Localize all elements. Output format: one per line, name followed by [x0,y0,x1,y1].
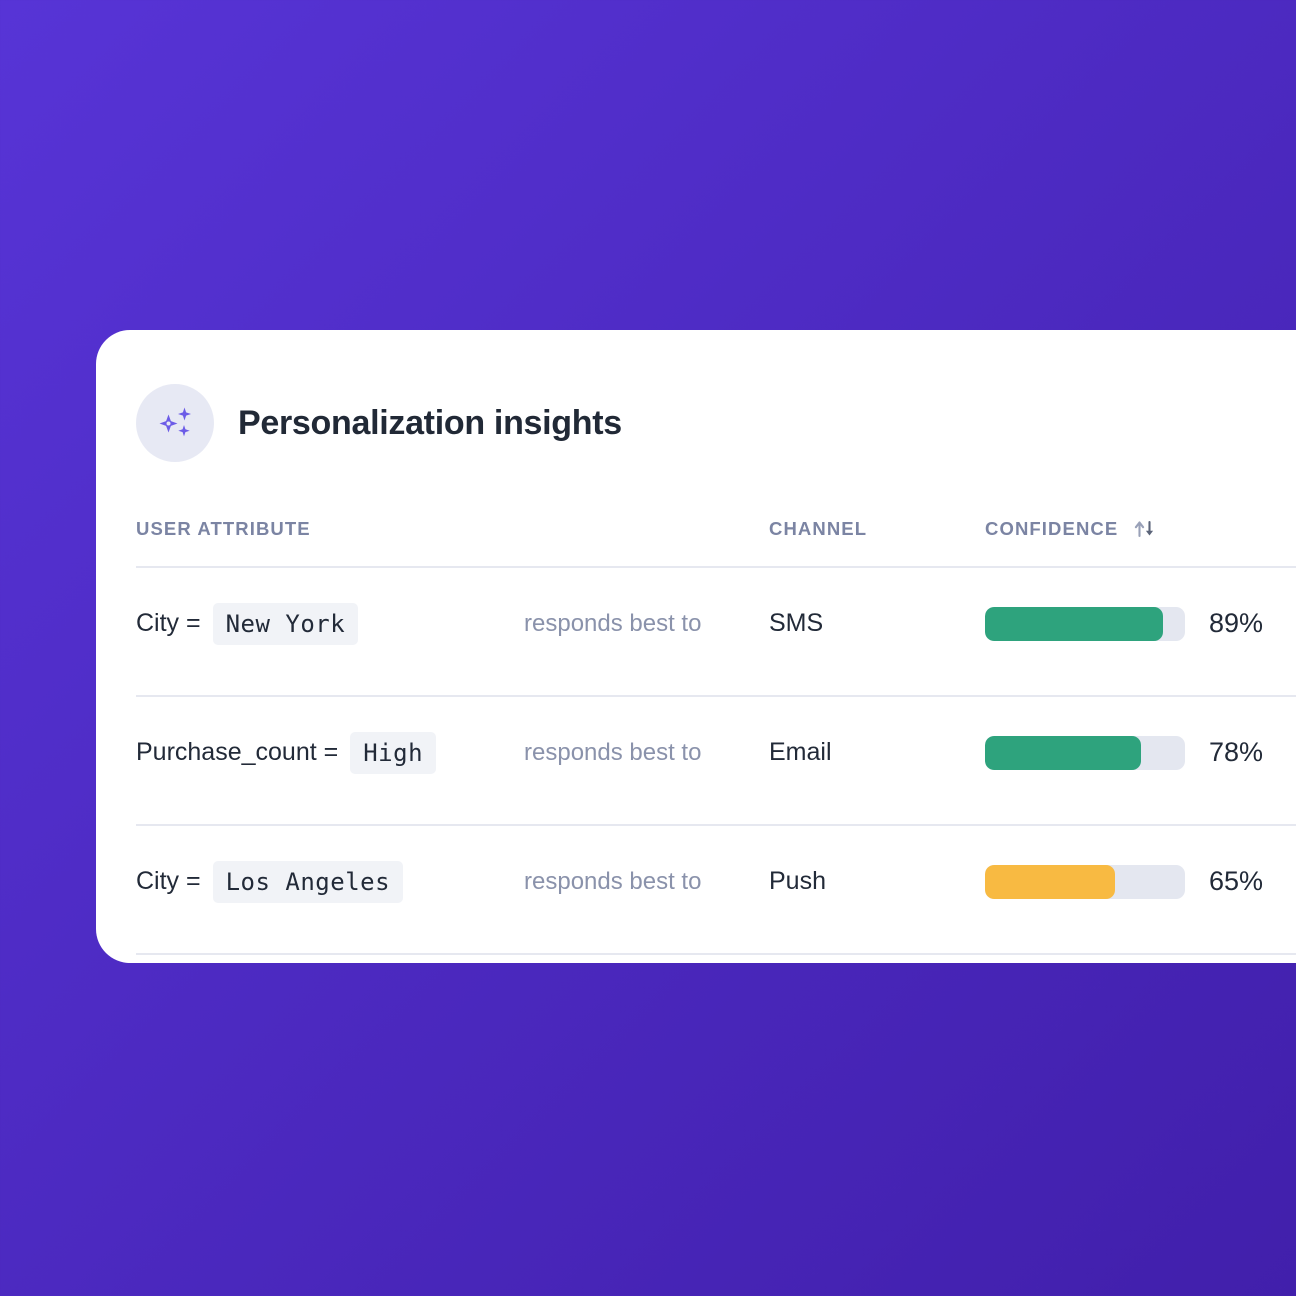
insights-table: USER ATTRIBUTE CHANNEL CONFIDENCE [96,508,1296,955]
page-title: Personalization insights [238,404,622,443]
confidence-bar-track [985,607,1185,641]
sort-arrows-icon[interactable] [1132,516,1158,542]
personalization-insights-card: Personalization insights USER ATTRIBUTE … [96,330,1296,963]
confidence-bar-track [985,865,1185,899]
confidence-bar-fill [985,736,1141,770]
column-header-channel: CHANNEL [769,518,867,539]
card-header: Personalization insights [96,330,1296,462]
channel-value: Push [769,867,826,895]
table-row[interactable]: Purchase_count = High responds best to E… [136,697,1296,808]
attribute-value-chip: Los Angeles [213,861,403,903]
confidence-bar-fill [985,865,1115,899]
relation-phrase: responds best to [524,610,701,637]
channel-value: SMS [769,609,823,637]
confidence-bar-track [985,736,1185,770]
table-row[interactable]: City = Los Angeles responds best to Push… [136,826,1296,937]
column-header-user-attribute: USER ATTRIBUTE [136,518,311,540]
channel-value: Email [769,738,832,766]
table-bottom-divider [136,953,1296,955]
attribute-value-chip: New York [213,603,359,645]
sparkles-icon-badge [136,384,214,462]
sparkles-icon [153,401,197,445]
confidence-bar-fill [985,607,1163,641]
table-row[interactable]: City = New York responds best to SMS 89% [136,568,1296,679]
attribute-key: City = [136,867,201,896]
confidence-value: 78% [1209,737,1263,768]
attribute-key: City = [136,609,201,638]
confidence-value: 89% [1209,608,1263,639]
column-header-confidence: CONFIDENCE [985,518,1118,540]
table-header-row: USER ATTRIBUTE CHANNEL CONFIDENCE [136,508,1296,550]
confidence-value: 65% [1209,866,1263,897]
attribute-value-chip: High [350,732,436,774]
relation-phrase: responds best to [524,739,701,766]
attribute-key: Purchase_count = [136,738,338,767]
relation-phrase: responds best to [524,868,701,895]
